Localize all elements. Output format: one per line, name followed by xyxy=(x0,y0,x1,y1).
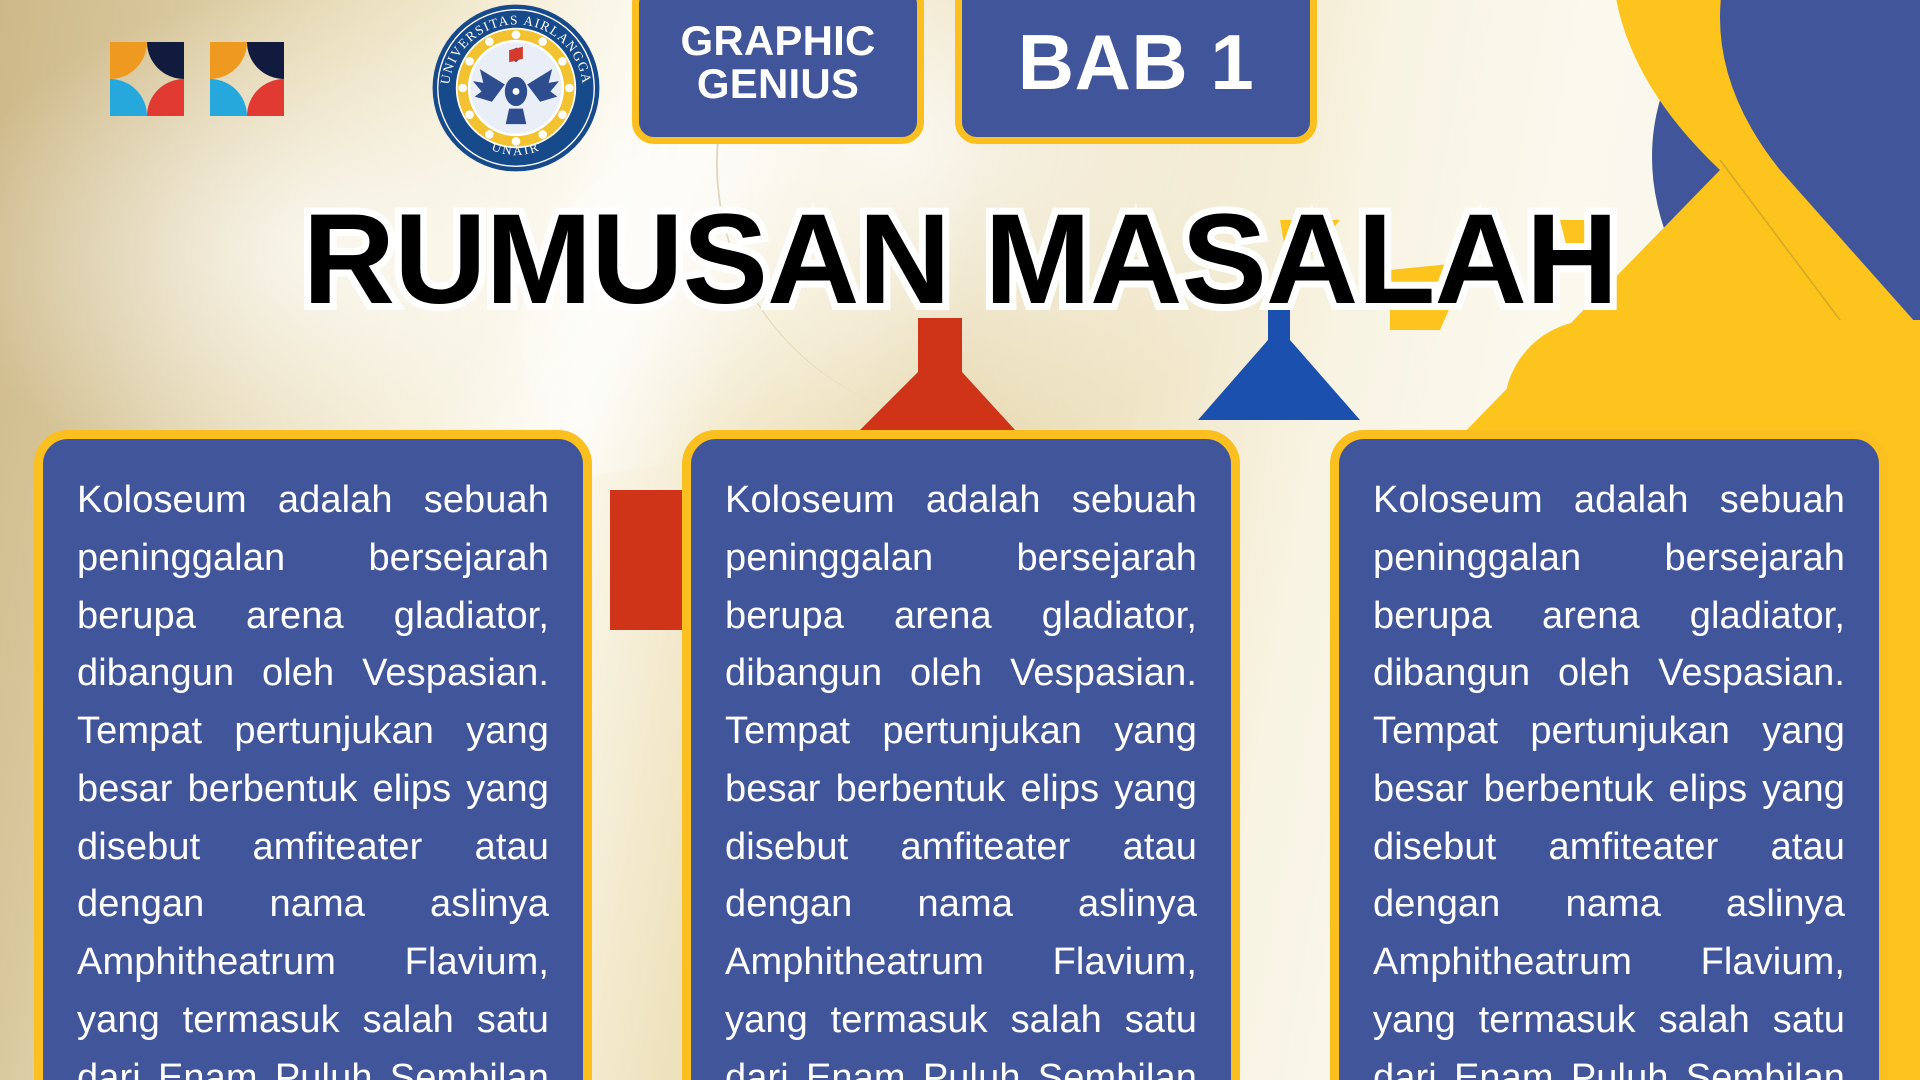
slide-canvas: UNIVERSITAS AIRLANGGA UNAIR GRAPHIC GENI… xyxy=(0,0,1920,1080)
badge-bab-label: BAB 1 xyxy=(1018,17,1255,108)
content-card-1-body: Koloseum adalah sebuah peninggalan berse… xyxy=(77,472,549,1080)
graphic-genius-mark-1-icon xyxy=(110,42,184,116)
content-card-3[interactable]: Koloseum adalah sebuah peninggalan berse… xyxy=(1330,430,1888,1080)
badge-graphic-genius-line2: GENIUS xyxy=(680,63,875,106)
header-row: UNIVERSITAS AIRLANGGA UNAIR GRAPHIC GENI… xyxy=(0,0,1920,175)
content-card-2-body: Koloseum adalah sebuah peninggalan berse… xyxy=(725,472,1197,1080)
page-title: RUMUSAN MASALAH xyxy=(0,196,1920,324)
graphic-genius-mark-2-icon xyxy=(210,42,284,116)
content-card-1[interactable]: Koloseum adalah sebuah peninggalan berse… xyxy=(34,430,592,1080)
badge-graphic-genius[interactable]: GRAPHIC GENIUS xyxy=(632,0,924,144)
content-card-group: Koloseum adalah sebuah peninggalan berse… xyxy=(0,430,1920,1080)
content-card-3-body: Koloseum adalah sebuah peninggalan berse… xyxy=(1373,472,1845,1080)
content-card-2[interactable]: Koloseum adalah sebuah peninggalan berse… xyxy=(682,430,1240,1080)
badge-bab[interactable]: BAB 1 xyxy=(955,0,1317,144)
unair-seal-icon: UNIVERSITAS AIRLANGGA UNAIR xyxy=(430,2,602,174)
badge-graphic-genius-line1: GRAPHIC xyxy=(680,20,875,63)
